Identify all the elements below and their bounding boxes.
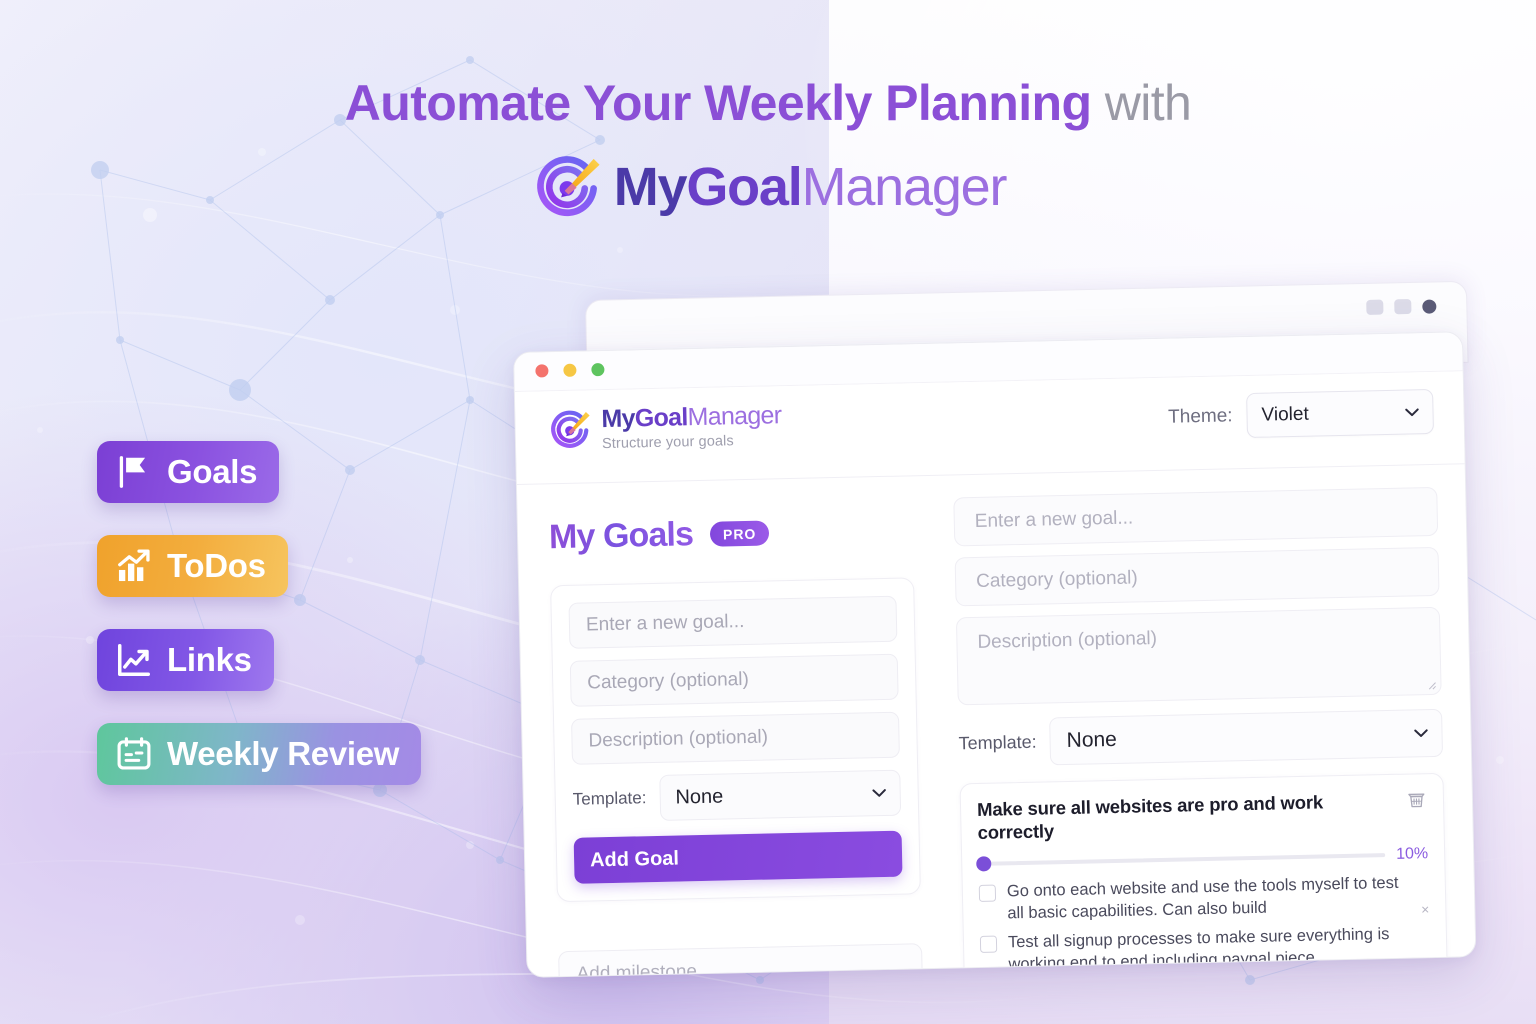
- app-tagline: Structure your goals: [602, 433, 782, 451]
- category-input[interactable]: Category (optional): [570, 654, 899, 707]
- maximize-button-icon[interactable]: [591, 363, 604, 376]
- chevron-down-icon: [1404, 407, 1419, 416]
- milestone-text: Go onto each website and use the tools m…: [1007, 873, 1408, 926]
- template-label: Template:: [573, 788, 647, 810]
- theme-selected-value: Violet: [1261, 403, 1309, 426]
- right-template-row: Template: None: [958, 709, 1443, 768]
- maximize-square-icon[interactable]: [1394, 299, 1411, 314]
- minimize-button-icon[interactable]: [563, 364, 576, 377]
- target-pencil-icon: [546, 406, 593, 453]
- milestone-remove-button[interactable]: ×: [1422, 952, 1431, 968]
- close-dot-icon[interactable]: [1422, 299, 1436, 313]
- close-button-icon[interactable]: [535, 364, 548, 377]
- goal-card-title: Make sure all websites are pro and work …: [977, 789, 1397, 844]
- add-goal-button[interactable]: Add Goal: [574, 831, 903, 884]
- milestone-item: Test all signup processes to make sure e…: [980, 923, 1431, 977]
- app-brand-my: My: [601, 404, 635, 433]
- description-input[interactable]: Description (optional): [571, 712, 900, 765]
- resize-handle-icon[interactable]: [1425, 679, 1436, 690]
- page-title: My Goals: [549, 515, 694, 557]
- right-category-input[interactable]: Category (optional): [955, 547, 1440, 607]
- app-logo-text: MyGoalManager Structure your goals: [601, 403, 782, 451]
- right-description-placeholder: Description (optional): [977, 628, 1157, 654]
- template-row: Template: None: [572, 770, 901, 823]
- add-milestone-input[interactable]: Add milestone...: [982, 976, 1391, 978]
- pro-badge: PRO: [710, 520, 770, 546]
- progress-slider-knob[interactable]: [976, 856, 991, 871]
- right-goal-input[interactable]: Enter a new goal...: [953, 487, 1438, 547]
- app-brand-line: MyGoalManager: [601, 403, 781, 432]
- progress-percent-label: 10%: [1396, 845, 1428, 864]
- minimize-square-icon[interactable]: [1366, 300, 1383, 315]
- theme-label: Theme:: [1168, 405, 1233, 428]
- background-window-controls: [1366, 298, 1436, 315]
- add-goal-card: Enter a new goal... Category (optional) …: [550, 577, 921, 902]
- traffic-lights: [535, 363, 604, 378]
- add-milestone-row: Add milestone... +: [981, 974, 1432, 978]
- right-description-input[interactable]: Description (optional): [956, 607, 1442, 706]
- goal-input[interactable]: Enter a new goal...: [568, 596, 897, 649]
- chevron-down-icon: [1413, 729, 1428, 738]
- left-add-milestone-input[interactable]: Add milestone...: [558, 943, 923, 978]
- progress-slider-track[interactable]: [978, 853, 1385, 866]
- milestone-checkbox[interactable]: [979, 885, 996, 902]
- theme-select[interactable]: Violet: [1246, 389, 1434, 438]
- chevron-down-icon: [872, 788, 887, 797]
- milestone-checkbox[interactable]: [980, 936, 997, 953]
- milestone-text: Test all signup processes to make sure e…: [1008, 924, 1409, 977]
- app-brand-manager: Manager: [687, 401, 781, 431]
- app-logo[interactable]: MyGoalManager Structure your goals: [546, 402, 782, 453]
- right-template-label: Template:: [958, 731, 1036, 754]
- goal-card: Make sure all websites are pro and work …: [960, 773, 1450, 978]
- goal-card-header: Make sure all websites are pro and work …: [977, 788, 1428, 844]
- app-brand-goal: Goal: [635, 403, 688, 432]
- app-window: MyGoalManager Structure your goals Theme…: [513, 331, 1476, 978]
- right-template-select[interactable]: None: [1049, 709, 1443, 766]
- my-goals-header: My Goals PRO: [549, 510, 947, 558]
- add-milestone-button[interactable]: +: [1392, 977, 1429, 978]
- milestone-item: Go onto each website and use the tools m…: [979, 872, 1430, 926]
- theme-control: Theme: Violet: [1168, 389, 1434, 440]
- trash-icon[interactable]: [1406, 789, 1427, 810]
- right-panel: Enter a new goal... Category (optional) …: [945, 464, 1476, 969]
- app-body: My Goals PRO Enter a new goal... Categor…: [517, 464, 1476, 978]
- milestone-remove-button[interactable]: ×: [1421, 901, 1430, 917]
- left-panel: My Goals PRO Enter a new goal... Categor…: [517, 476, 956, 978]
- goal-progress[interactable]: 10%: [978, 845, 1428, 873]
- right-template-selected-value: None: [1066, 728, 1117, 753]
- template-select[interactable]: None: [659, 770, 901, 821]
- template-selected-value: None: [675, 785, 723, 809]
